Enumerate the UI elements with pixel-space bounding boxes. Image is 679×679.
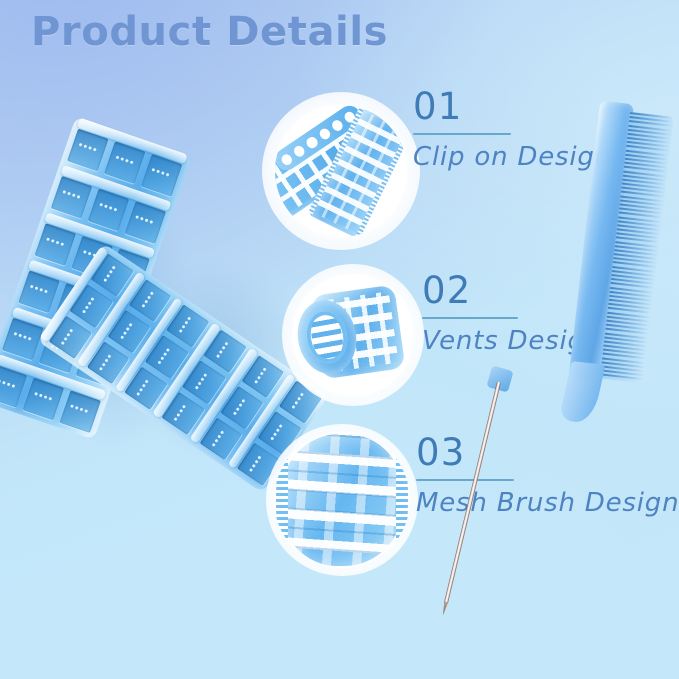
callout3-rim-teeth-right	[396, 446, 408, 550]
product-photo	[0, 110, 290, 450]
roller-studs	[103, 266, 116, 283]
roller-studs	[137, 379, 150, 396]
roller-studs	[136, 215, 154, 224]
roller-studs	[82, 297, 95, 314]
roller-studs	[79, 142, 97, 151]
feature-caption-3: Mesh Brush Design	[416, 488, 679, 518]
feature-image-3	[274, 432, 410, 568]
roller-studs	[30, 284, 48, 293]
feature-caption-1: Clip on Design	[413, 142, 612, 172]
feature-rule-2	[422, 317, 518, 319]
callout3-mesh	[280, 434, 404, 566]
feature-image-2	[292, 274, 414, 396]
feature-number-2: 02	[422, 272, 602, 309]
roller-studs	[174, 404, 187, 421]
feature-callout-3	[266, 424, 418, 576]
roller-studs	[179, 317, 192, 334]
callout1-scene	[275, 105, 407, 237]
page-title: Product Details	[31, 9, 388, 55]
callout2-scene	[292, 274, 414, 396]
roller-studs	[61, 328, 74, 345]
product-details-infographic: Product Details 01 Clip on Design	[0, 0, 679, 679]
roller-studs	[195, 373, 208, 390]
feature-label-1: 01 Clip on Design	[413, 88, 612, 172]
feature-rule-3	[416, 479, 514, 481]
roller-studs	[14, 332, 32, 341]
roller-studs	[115, 155, 133, 164]
callout3-rim-teeth-left	[276, 450, 288, 550]
feature-number-1: 01	[413, 88, 612, 125]
roller-studs	[233, 399, 246, 416]
roller-studs	[46, 237, 64, 246]
feature-rule-1	[413, 133, 511, 135]
feature-image-1	[275, 105, 407, 237]
roller-studs	[34, 391, 52, 400]
roller-studs	[141, 291, 154, 308]
roller-studs	[99, 354, 112, 371]
callout3-scene	[274, 432, 410, 568]
roller-studs	[216, 342, 229, 359]
roller-studs	[212, 430, 225, 447]
roller-studs	[254, 368, 267, 385]
roller-studs	[152, 168, 170, 177]
roller-studs	[62, 190, 80, 199]
roller-studs	[0, 379, 15, 388]
feature-callout-2	[282, 264, 424, 406]
roller-studs	[158, 348, 171, 365]
roller-studs	[71, 404, 89, 413]
roller-studs	[249, 455, 262, 472]
feature-number-3: 03	[416, 434, 679, 471]
feature-callout-1	[262, 92, 420, 250]
roller-studs	[120, 323, 133, 340]
roller-studs	[99, 202, 117, 211]
feature-label-3: 03 Mesh Brush Design	[416, 434, 679, 518]
